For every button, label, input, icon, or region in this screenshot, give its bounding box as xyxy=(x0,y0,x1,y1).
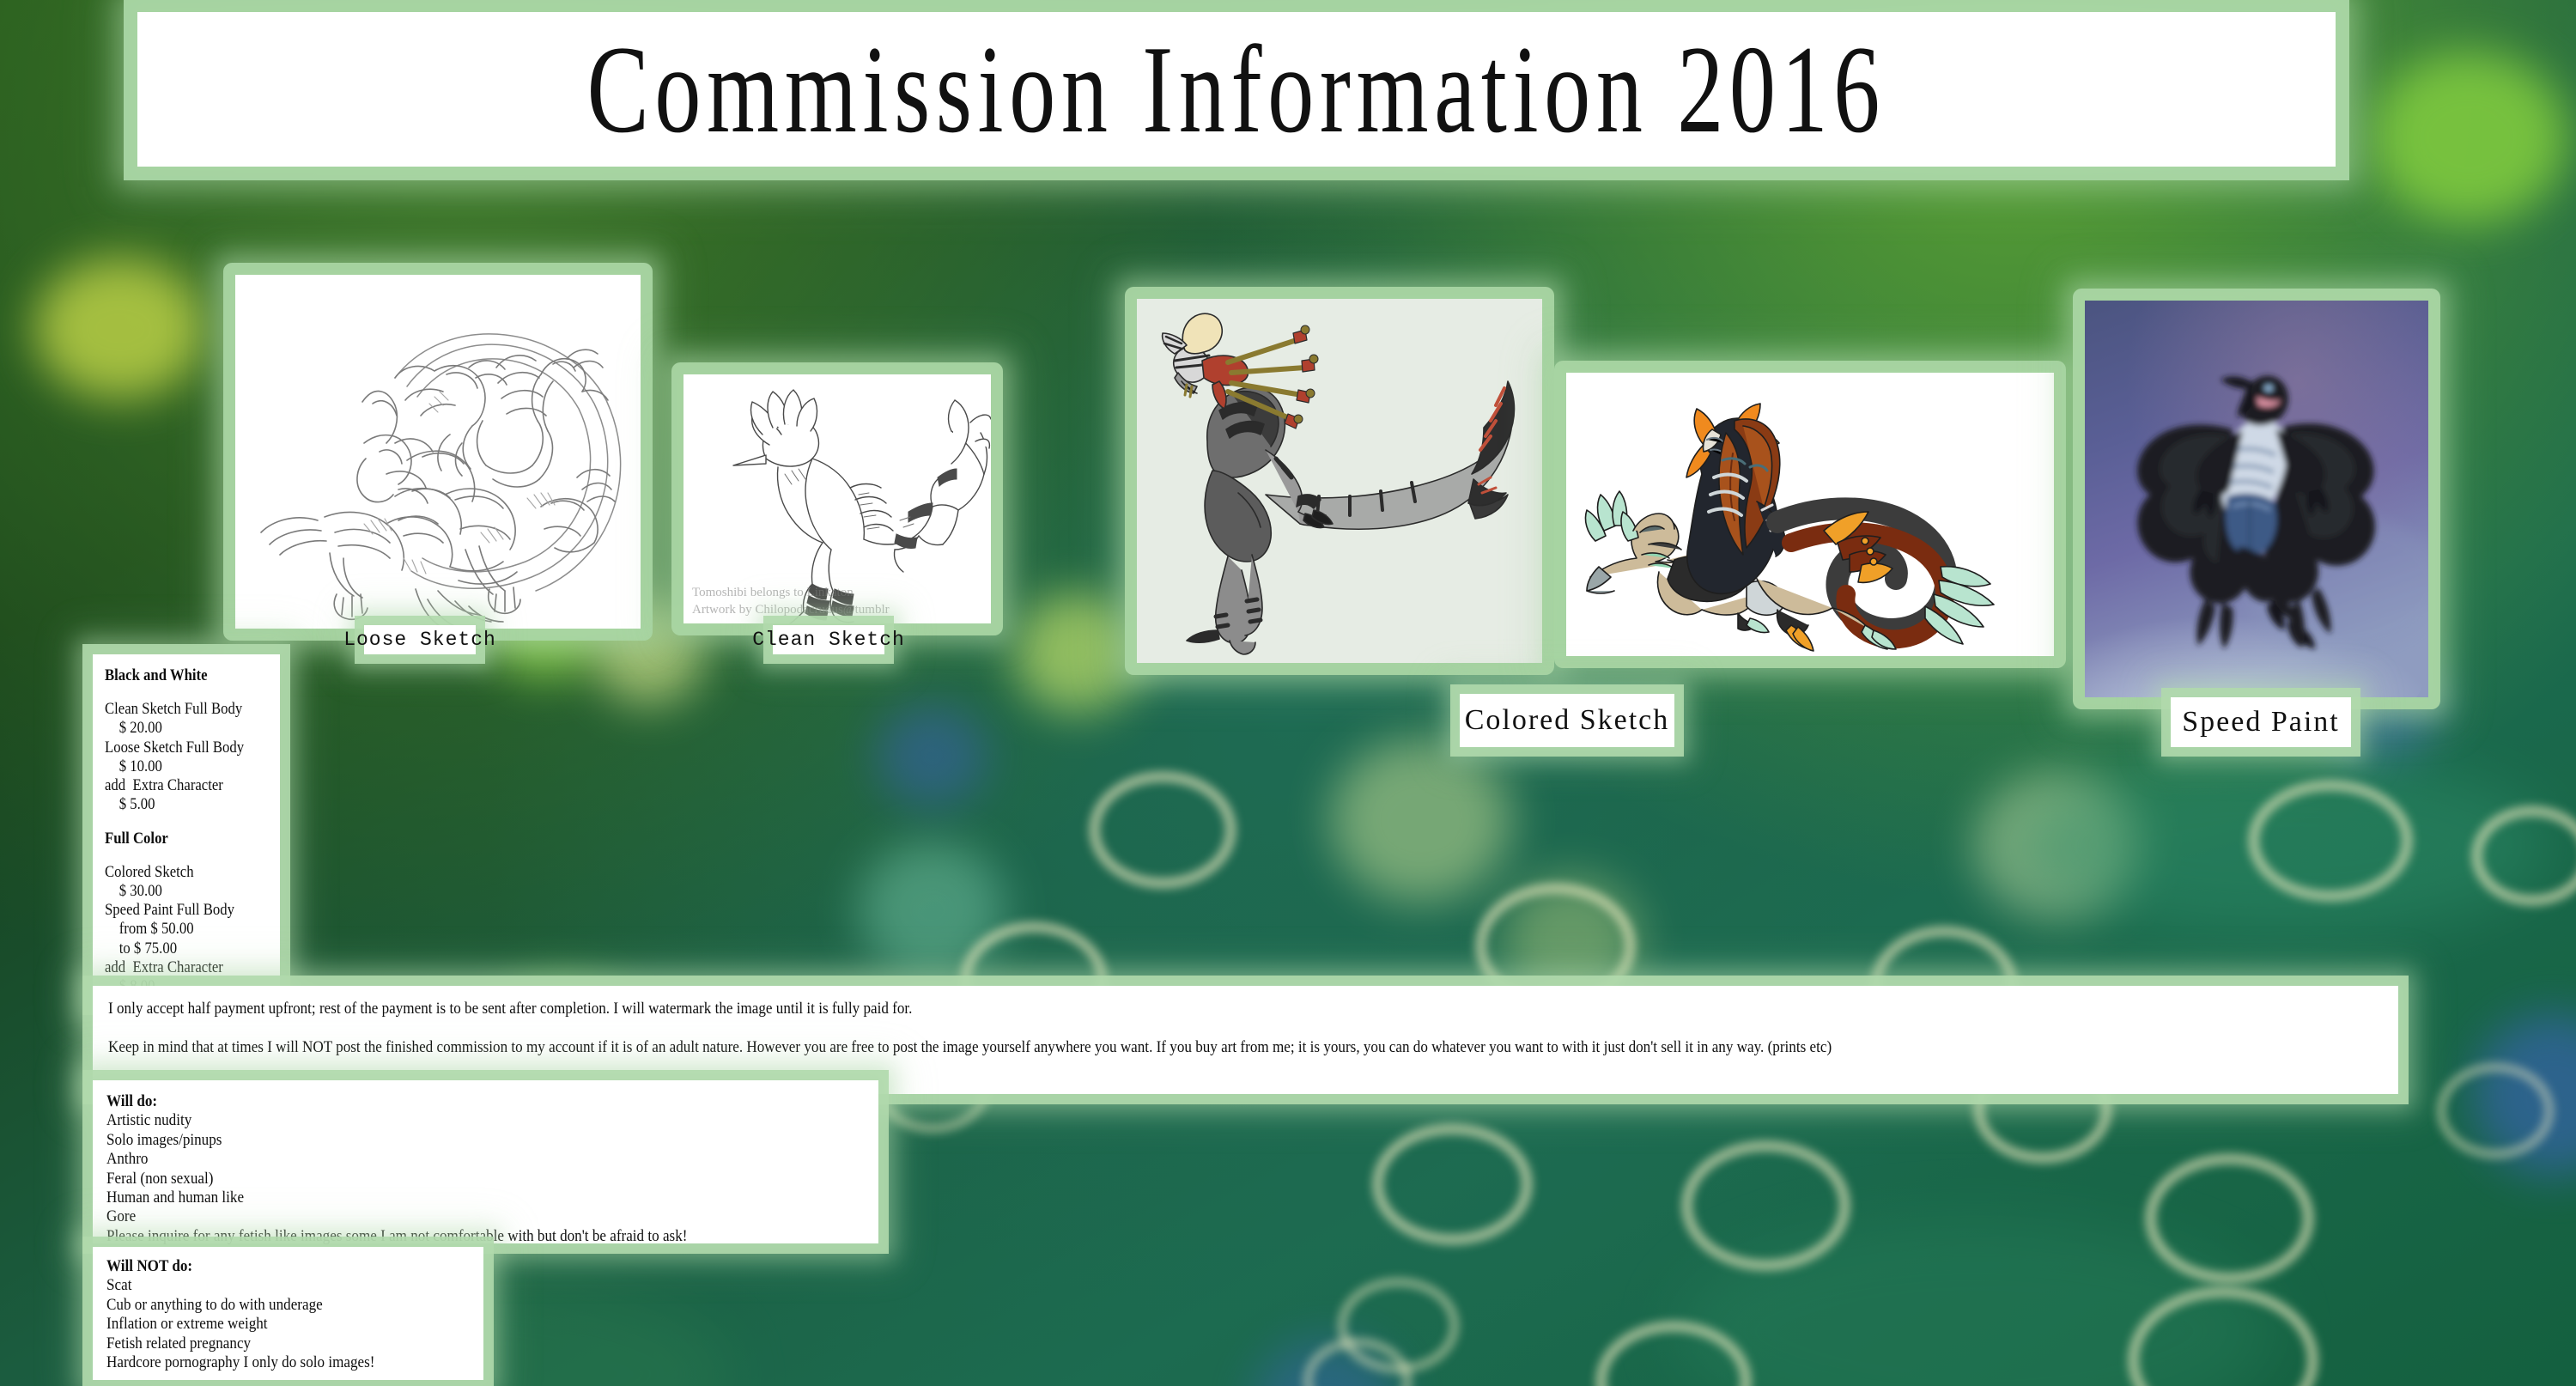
price-value: $ 20.00 xyxy=(105,719,246,738)
will-do-item: Human and human like xyxy=(106,1188,789,1207)
price-item: Colored Sketch xyxy=(105,863,246,882)
price-item: Loose Sketch Full Body xyxy=(105,739,246,757)
will-not-do-item: Scat xyxy=(106,1276,434,1295)
price-value: $ 5.00 xyxy=(105,795,246,814)
artwork-speed-paint-frame xyxy=(2085,301,2428,697)
will-do-heading: Will do: xyxy=(106,1092,789,1111)
caption-colored-sketch: Colored Sketch xyxy=(1460,694,1674,747)
terms-paragraph-2: Keep in mind that at times I will NOT po… xyxy=(108,1038,2155,1058)
pricing-heading-bw: Black and White xyxy=(105,666,246,685)
will-do-item: Please inquire for any fetish like image… xyxy=(106,1227,789,1246)
pricing-panel: Black and White Clean Sketch Full Body $… xyxy=(93,654,280,1005)
artwork-clean-sketch-frame: Tomoshibi belongs to Linkaton Artwork by… xyxy=(683,374,991,623)
artwork-speed-paint xyxy=(2085,301,2428,697)
price-value: to $ 75.00 xyxy=(105,939,246,958)
artwork-grey-character xyxy=(1137,299,1542,663)
will-do-item: Solo images/pinups xyxy=(106,1131,789,1150)
terms-paragraph-1: I only accept half payment upfront; rest… xyxy=(108,1000,2155,1019)
will-not-do-item: Hardcore pornography I only do solo imag… xyxy=(106,1353,434,1372)
artwork-colored-sketch xyxy=(1566,373,2054,656)
price-item: Speed Paint Full Body xyxy=(105,901,246,920)
caption-loose-sketch: Loose Sketch xyxy=(364,625,476,654)
price-item: add Extra Character xyxy=(105,776,246,795)
price-item: Clean Sketch Full Body xyxy=(105,700,246,719)
price-value: $ 30.00 xyxy=(105,882,246,901)
pricing-heading-color: Full Color xyxy=(105,830,246,848)
artwork-colored-sketch-frame xyxy=(1566,373,2054,656)
will-not-do-heading: Will NOT do: xyxy=(106,1257,434,1276)
will-do-panel: Will do: Artistic nudity Solo images/pin… xyxy=(93,1080,878,1243)
artwork-loose-sketch xyxy=(235,275,641,629)
commission-info-sheet: Commission Information 2016 xyxy=(0,0,2576,1386)
artwork-grey-character-frame xyxy=(1137,299,1542,663)
will-do-item: Feral (non sexual) xyxy=(106,1170,789,1188)
will-not-do-item: Inflation or extreme weight xyxy=(106,1315,434,1334)
will-do-item: Anthro xyxy=(106,1150,789,1169)
will-not-do-panel: Will NOT do: Scat Cub or anything to do … xyxy=(93,1247,483,1380)
will-not-do-item: Fetish related pregnancy xyxy=(106,1334,434,1353)
will-do-item: Gore xyxy=(106,1207,789,1226)
artwork-clean-sketch xyxy=(683,374,991,623)
caption-speed-paint: Speed Paint xyxy=(2171,697,2351,747)
caption-clean-sketch: Clean Sketch xyxy=(773,625,884,654)
will-do-item: Artistic nudity xyxy=(106,1111,789,1130)
page-title-banner: Commission Information 2016 xyxy=(137,12,2336,167)
price-value: $ 10.00 xyxy=(105,757,246,776)
price-item: add Extra Character xyxy=(105,958,246,977)
page-title: Commission Information 2016 xyxy=(587,27,1886,152)
will-not-do-item: Cub or anything to do with underage xyxy=(106,1296,434,1315)
artwork-loose-sketch-frame xyxy=(235,275,641,629)
terms-panel: I only accept half payment upfront; rest… xyxy=(93,986,2398,1094)
price-value: from $ 50.00 xyxy=(105,920,246,939)
